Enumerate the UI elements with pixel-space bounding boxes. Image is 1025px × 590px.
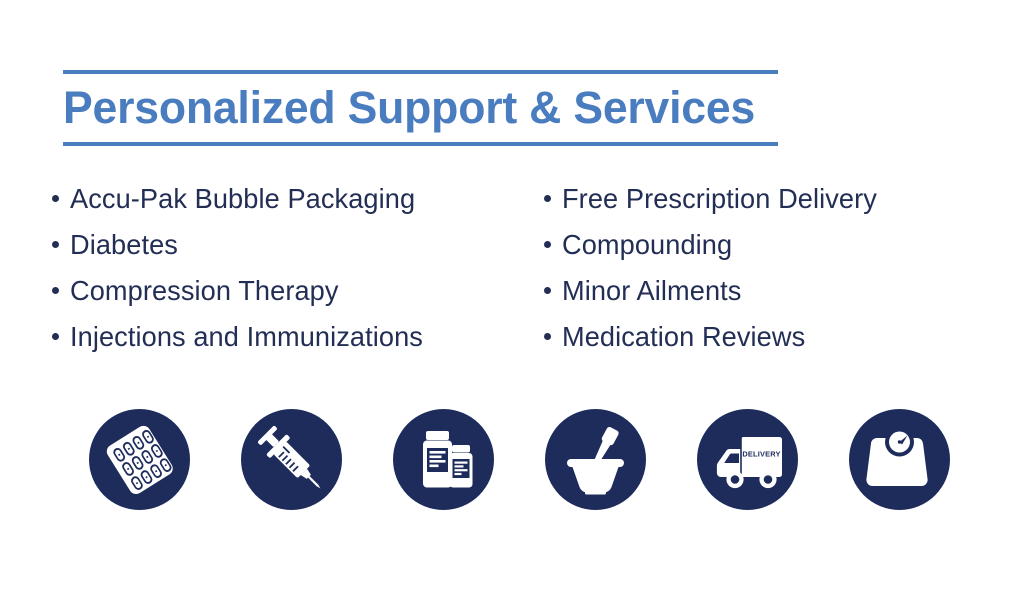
syringe-icon — [241, 409, 342, 510]
service-label: Injections and Immunizations — [70, 314, 423, 360]
icon-badge-blister-pack — [89, 409, 190, 510]
title-rule-top — [63, 70, 778, 74]
bullet-dot-icon — [544, 176, 562, 222]
list-item: Compression Therapy — [52, 268, 544, 314]
service-label: Diabetes — [70, 222, 178, 268]
service-label: Accu-Pak Bubble Packaging — [70, 176, 415, 222]
weight-scale-icon — [849, 409, 950, 510]
bullet-dot-icon — [52, 268, 70, 314]
list-item: Compounding — [544, 222, 999, 268]
bullet-dot-icon — [52, 314, 70, 360]
delivery-truck-icon: DELIVERY — [697, 409, 798, 510]
pill-bottles-icon — [393, 409, 494, 510]
page-title: Personalized Support & Services — [63, 80, 771, 136]
icon-badge-delivery-truck: DELIVERY — [697, 409, 798, 510]
slide-canvas: Personalized Support & Services Accu-Pak… — [0, 0, 1025, 590]
services-right-column: Free Prescription Delivery Compounding M… — [544, 176, 999, 360]
mortar-pestle-icon — [545, 409, 646, 510]
list-item: Minor Ailments — [544, 268, 999, 314]
list-item: Accu-Pak Bubble Packaging — [52, 176, 544, 222]
icon-badge-weight-scale — [849, 409, 950, 510]
list-item: Free Prescription Delivery — [544, 176, 999, 222]
bullet-dot-icon — [52, 176, 70, 222]
large-bottle — [423, 431, 452, 488]
services-columns: Accu-Pak Bubble Packaging Diabetes Compr… — [52, 176, 1002, 360]
list-item: Medication Reviews — [544, 314, 999, 360]
bullet-dot-icon — [544, 222, 562, 268]
bullet-dot-icon — [544, 314, 562, 360]
small-bottle — [450, 445, 473, 488]
title-block: Personalized Support & Services — [63, 70, 778, 146]
service-label: Compounding — [562, 222, 732, 268]
service-label: Free Prescription Delivery — [562, 176, 877, 222]
service-label: Medication Reviews — [562, 314, 805, 360]
service-icon-row: DELIVERY — [89, 409, 949, 510]
list-item: Injections and Immunizations — [52, 314, 544, 360]
bullet-dot-icon — [52, 222, 70, 268]
service-label: Minor Ailments — [562, 268, 741, 314]
service-label: Compression Therapy — [70, 268, 339, 314]
list-item: Diabetes — [52, 222, 544, 268]
services-left-column: Accu-Pak Bubble Packaging Diabetes Compr… — [52, 176, 544, 360]
icon-badge-pill-bottles — [393, 409, 494, 510]
blister-pack-icon — [89, 409, 190, 510]
truck-delivery-label: DELIVERY — [742, 450, 780, 459]
bullet-dot-icon — [544, 268, 562, 314]
title-rule-bottom — [63, 142, 778, 146]
icon-badge-mortar-pestle — [545, 409, 646, 510]
icon-badge-syringe — [241, 409, 342, 510]
